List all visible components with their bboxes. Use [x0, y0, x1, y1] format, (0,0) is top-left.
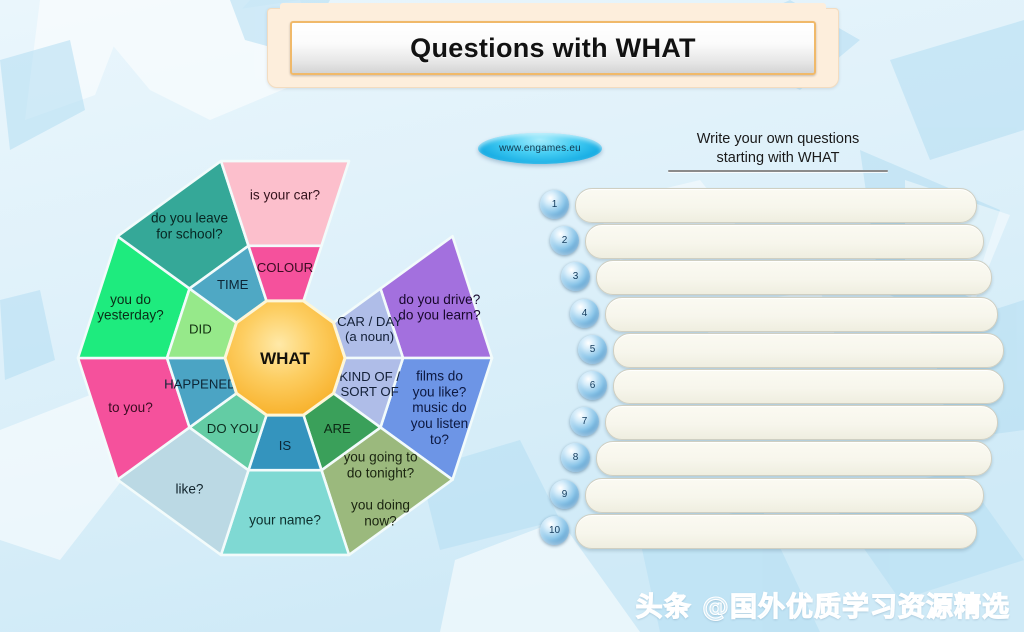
answer-row-number-text: 8 — [573, 452, 579, 463]
answer-row: 4 — [540, 297, 1018, 333]
outer-segment-label: do you leavefor school? — [151, 210, 228, 241]
answer-panel: Write your own questions starting with W… — [540, 120, 1018, 570]
answer-row: 7 — [540, 405, 1018, 441]
answer-row: 2 — [540, 224, 1018, 260]
answer-row-number: 1 — [540, 190, 569, 219]
answer-row: 3 — [540, 260, 1018, 296]
answer-row: 5 — [540, 333, 1018, 369]
answer-input-field[interactable] — [613, 369, 1004, 404]
watermark: 头条 @国外优质学习资源精选 — [636, 585, 1010, 624]
inner-segment-label: KIND OF /SORT OF — [339, 369, 400, 399]
answer-row-number-text: 4 — [582, 308, 588, 319]
inner-segment-label: HAPPENED — [164, 377, 237, 392]
inner-segment-label: DID — [189, 322, 212, 337]
outer-segment-label: like? — [176, 481, 204, 496]
answer-row-number: 2 — [550, 226, 579, 255]
what-question-wheel: do you drive?do you learn?films doyou li… — [0, 86, 522, 616]
panel-heading-underline — [668, 170, 888, 172]
page-title: Questions with WHAT — [410, 33, 696, 64]
answer-row-number-text: 10 — [549, 525, 560, 536]
answer-row-number-text: 9 — [562, 489, 568, 500]
answer-input-field[interactable] — [575, 188, 977, 223]
inner-segment-label: IS — [279, 438, 292, 453]
answer-input-field[interactable] — [585, 478, 984, 513]
outer-segment-label: do you drive?do you learn? — [398, 291, 481, 322]
worksheet-page: Questions with WHAT do you drive?do you … — [0, 0, 1024, 632]
outer-segment-label: to you? — [108, 400, 153, 415]
title-banner: Questions with WHAT — [267, 8, 839, 88]
panel-heading: Write your own questions starting with W… — [668, 130, 888, 172]
answer-input-field[interactable] — [596, 441, 992, 476]
answer-row: 8 — [540, 441, 1018, 477]
answer-input-field[interactable] — [613, 333, 1004, 368]
answer-row: 1 — [540, 188, 1018, 224]
answer-input-field[interactable] — [605, 297, 998, 332]
answer-row: 9 — [540, 478, 1018, 514]
inner-segment-label: TIME — [217, 277, 249, 292]
wheel-core-label: WHAT — [260, 349, 310, 368]
outer-segment-label: your name? — [249, 512, 321, 527]
panel-heading-line1: Write your own questions — [668, 130, 888, 149]
wheel-core: WHAT — [225, 301, 345, 415]
answer-row: 6 — [540, 369, 1018, 405]
answer-row-number: 3 — [561, 262, 590, 291]
answer-row-number: 6 — [578, 371, 607, 400]
outer-segment-label: is your car? — [250, 187, 321, 202]
answer-row-number-text: 1 — [552, 199, 558, 210]
answer-row-number: 10 — [540, 516, 569, 545]
inner-segment-label: DO YOU — [207, 421, 259, 436]
answer-row-number: 9 — [550, 480, 579, 509]
inner-segment-label: COLOUR — [257, 260, 313, 275]
answer-row-number-text: 3 — [573, 271, 579, 282]
answer-row: 10 — [540, 514, 1018, 550]
panel-heading-line2: starting with WHAT — [668, 149, 888, 168]
answer-row-number: 4 — [570, 299, 599, 328]
answer-row-number-text: 5 — [590, 344, 596, 355]
answer-input-field[interactable] — [596, 260, 992, 295]
answer-row-number: 8 — [561, 443, 590, 472]
title-banner-inner: Questions with WHAT — [290, 21, 816, 75]
answer-input-field[interactable] — [585, 224, 984, 259]
answer-row-number: 7 — [570, 407, 599, 436]
answer-rows: 12345678910 — [540, 188, 1018, 550]
answer-input-field[interactable] — [575, 514, 977, 549]
answer-row-number-text: 2 — [562, 235, 568, 246]
answer-row-number: 5 — [578, 335, 607, 364]
answer-row-number-text: 7 — [582, 416, 588, 427]
answer-input-field[interactable] — [605, 405, 998, 440]
answer-row-number-text: 6 — [590, 380, 596, 391]
inner-segment-label: CAR / DAY(a noun) — [337, 314, 402, 344]
inner-segment-label: ARE — [324, 421, 351, 436]
